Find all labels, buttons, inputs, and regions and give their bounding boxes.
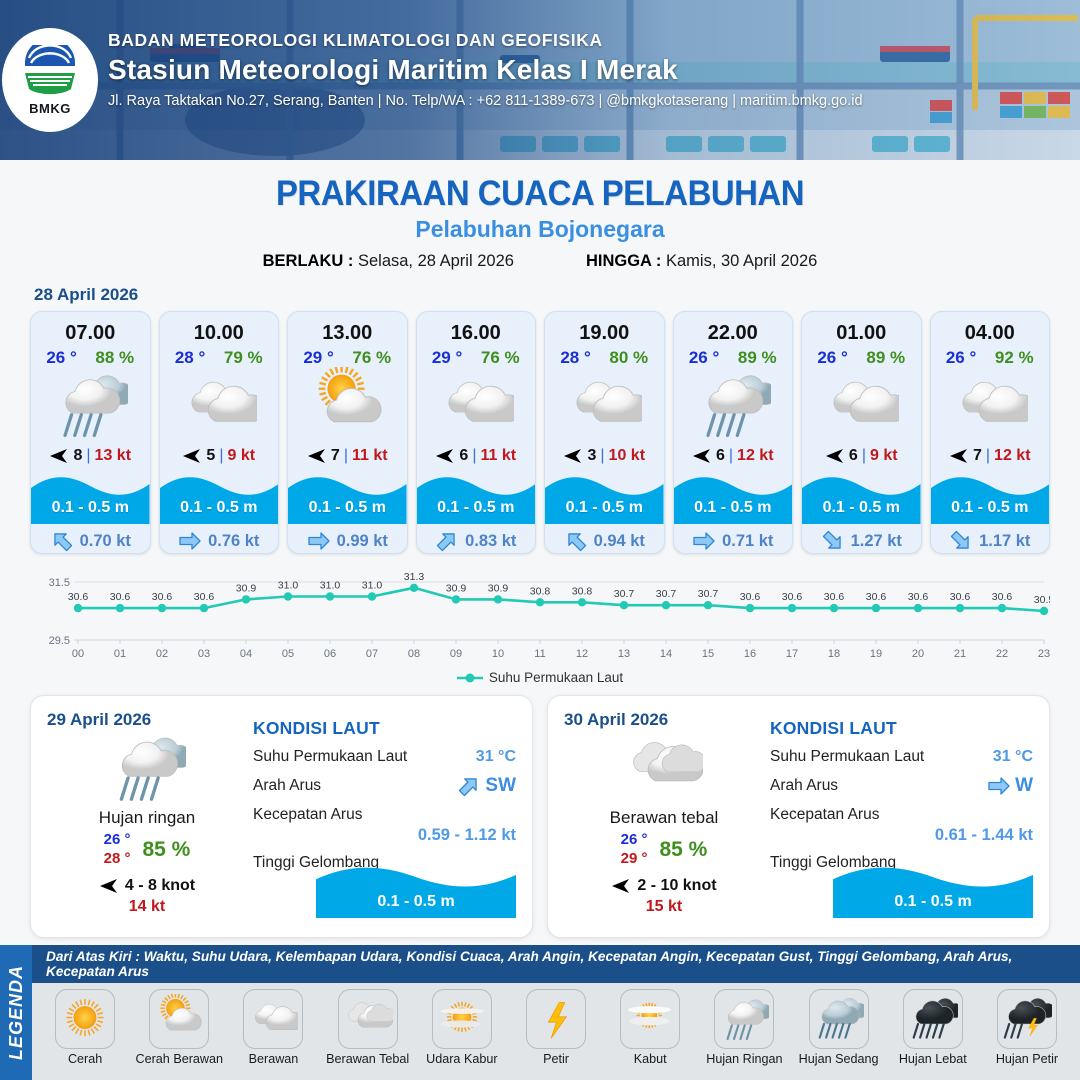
daily-temp-range: 26 ° 28 °	[104, 831, 131, 869]
berlaku-value: Selasa, 28 April 2026	[358, 252, 514, 270]
card-current-row: 0.70 kt	[31, 524, 150, 552]
svg-text:07: 07	[366, 648, 378, 660]
legend-item: Cerah	[40, 989, 130, 1066]
card-wind-speed: 9 kt	[870, 447, 898, 465]
wind-direction-arrow-icon	[49, 447, 69, 465]
current-direction-arrow-icon	[457, 775, 481, 797]
current-direction-arrow-icon	[949, 530, 973, 552]
legend-side-label: LEGENDA	[6, 965, 27, 1060]
current-direction-value: SW	[485, 775, 516, 797]
card-time: 04.00	[931, 312, 1050, 345]
berlaku-label: BERLAKU :	[263, 252, 354, 270]
daily-humidity: 85 %	[142, 838, 190, 862]
legend-icon-box	[620, 989, 680, 1049]
svg-text:11: 11	[534, 648, 545, 660]
berawan-icon	[566, 367, 642, 443]
current-direction-arrow-icon	[821, 530, 845, 552]
sst-chart-svg: 31.529.530.60030.60130.60230.60330.90431…	[30, 568, 1050, 668]
card-wind-separator: |	[219, 447, 223, 465]
hingga-label: HINGGA :	[586, 252, 661, 270]
hourly-forecast-card[interactable]: 22.00 26 ° 89 % 6 | 12 kt 0.1 - 0.5 m	[673, 311, 794, 554]
card-wave-height: 0.1 - 0.5 m	[802, 472, 921, 524]
card-temperature: 28 °	[560, 348, 590, 368]
card-weather-icon	[417, 368, 536, 442]
svg-text:02: 02	[156, 648, 168, 660]
berawan-tebal-icon	[343, 994, 393, 1044]
hingga-value: Kamis, 30 April 2026	[666, 252, 817, 270]
card-temperature: 26 °	[946, 348, 976, 368]
daily-wave-graphic: 0.1 - 0.5 m	[833, 862, 1033, 918]
card-wind-speed: 13 kt	[95, 447, 131, 465]
legend-item: Hujan Sedang	[794, 989, 884, 1066]
card-current-row: 0.94 kt	[545, 524, 664, 552]
legend-icon-box	[714, 989, 774, 1049]
svg-text:23: 23	[1038, 648, 1050, 660]
card-time: 22.00	[674, 312, 793, 345]
daily-forecast-panel[interactable]: 30 April 2026 Berawan tebal 26 ° 29 ° 85…	[547, 695, 1050, 938]
card-temp-hum-row: 29 ° 76 %	[417, 345, 536, 368]
cerah-berawan-icon	[154, 994, 204, 1044]
svg-text:30.7: 30.7	[656, 588, 677, 600]
wind-direction-arrow-icon	[182, 447, 202, 465]
hourly-forecast-card[interactable]: 10.00 28 ° 79 % 5 | 9 kt 0.1 - 0.5 m 0	[159, 311, 280, 554]
legend-item: Kabut	[605, 989, 695, 1066]
card-wave-value: 0.1 - 0.5 m	[288, 499, 407, 517]
contact-line: Jl. Raya Taktakan No.27, Serang, Banten …	[108, 93, 863, 109]
daily-wind-range: 2 - 10 knot	[637, 877, 716, 895]
card-temp-hum-row: 26 ° 89 %	[674, 345, 793, 368]
card-temperature: 26 °	[46, 348, 76, 368]
svg-text:30.9: 30.9	[446, 582, 467, 594]
card-wave-height: 0.1 - 0.5 m	[545, 472, 664, 524]
daily-left-column: Berawan tebal 26 ° 29 ° 85 % 2 - 10 knot…	[564, 732, 764, 916]
card-temperature: 29 °	[432, 348, 462, 368]
svg-text:10: 10	[492, 648, 504, 660]
svg-text:30.6: 30.6	[950, 591, 971, 603]
card-weather-icon	[931, 368, 1050, 442]
card-wind-direction-value: 7	[973, 447, 982, 465]
svg-text:00: 00	[72, 648, 84, 660]
card-current-speed: 0.94 kt	[594, 532, 645, 551]
sst-row: Suhu Permukaan Laut 31 °C	[253, 748, 516, 766]
card-time: 01.00	[802, 312, 921, 345]
daily-gust: 15 kt	[564, 898, 764, 916]
card-weather-icon	[160, 368, 279, 442]
daily-temp-humidity: 26 ° 28 ° 85 %	[47, 831, 247, 869]
bmkg-logo-text: BMKG	[29, 101, 71, 116]
current-speed-row: Kecepatan Arus	[253, 806, 516, 824]
current-speed-value: 0.61 - 1.44 kt	[770, 826, 1033, 845]
card-wind-row: 8 | 13 kt	[31, 442, 150, 470]
legend-body: Dari Atas Kiri : Waktu, Suhu Udara, Kele…	[32, 945, 1080, 1080]
card-wave-value: 0.1 - 0.5 m	[931, 499, 1050, 517]
svg-text:30.7: 30.7	[698, 588, 719, 600]
legend-item: Hujan Lebat	[888, 989, 978, 1066]
card-wind-speed: 9 kt	[227, 447, 255, 465]
svg-text:06: 06	[324, 648, 336, 660]
legend-item-label: Hujan Sedang	[799, 1052, 879, 1066]
svg-text:04: 04	[240, 648, 252, 660]
daily-left-column: Hujan ringan 26 ° 28 ° 85 % 4 - 8 knot 1…	[47, 732, 247, 916]
svg-text:30.5: 30.5	[1034, 594, 1050, 606]
card-wave-value: 0.1 - 0.5 m	[545, 499, 664, 517]
berawan-icon	[952, 367, 1028, 443]
daily-sea-conditions: KONDISI LAUT Suhu Permukaan Laut 31 °C A…	[253, 718, 516, 872]
berawan-icon	[181, 367, 257, 443]
daily-wave-value: 0.1 - 0.5 m	[316, 893, 516, 911]
petir-icon	[531, 994, 581, 1044]
card-wind-direction-value: 5	[206, 447, 215, 465]
card-current-row: 0.76 kt	[160, 524, 279, 552]
card-temperature: 26 °	[689, 348, 719, 368]
header-text-block: BADAN METEOROLOGI KLIMATOLOGI DAN GEOFIS…	[108, 30, 863, 109]
svg-text:30.6: 30.6	[866, 591, 887, 603]
svg-text:30.8: 30.8	[530, 585, 551, 597]
card-current-speed: 0.76 kt	[208, 532, 259, 551]
card-wind-separator: |	[344, 447, 348, 465]
svg-text:08: 08	[408, 648, 420, 660]
daily-forecast-row: 29 April 2026 Hujan ringan 26 ° 28 ° 85 …	[0, 685, 1080, 938]
card-wave-height: 0.1 - 0.5 m	[931, 472, 1050, 524]
daily-condition: Berawan tebal	[564, 808, 764, 828]
daily-temp-min: 26 °	[621, 831, 648, 850]
daily-wind-range: 4 - 8 knot	[125, 877, 195, 895]
current-direction-arrow-icon	[50, 530, 74, 552]
card-humidity: 92 %	[995, 348, 1034, 368]
legend-item: Udara Kabur	[417, 989, 507, 1066]
svg-text:30.6: 30.6	[110, 591, 131, 603]
daily-wind-row: 4 - 8 knot	[47, 877, 247, 895]
svg-text:30.6: 30.6	[152, 591, 173, 603]
svg-text:31.3: 31.3	[404, 571, 425, 583]
card-wind-speed: 12 kt	[737, 447, 773, 465]
card-weather-icon	[31, 368, 150, 442]
svg-text:31.0: 31.0	[320, 580, 341, 592]
legend-item-label: Hujan Petir	[996, 1052, 1058, 1066]
berawan-tebal-icon	[625, 729, 703, 807]
card-weather-icon	[545, 368, 664, 442]
card-temperature: 28 °	[175, 348, 205, 368]
svg-text:31.0: 31.0	[362, 580, 383, 592]
current-direction-row: Arah Arus SW	[253, 775, 516, 797]
legend-item-label: Berawan Tebal	[326, 1052, 409, 1066]
card-humidity: 79 %	[224, 348, 263, 368]
card-wind-row: 3 | 10 kt	[545, 442, 664, 470]
legend-item-label: Berawan	[249, 1052, 299, 1066]
wind-direction-arrow-icon	[692, 447, 712, 465]
page-subtitle: Pelabuhan Bojonegara	[0, 216, 1080, 243]
current-speed-row: Kecepatan Arus	[770, 806, 1033, 824]
card-wave-value: 0.1 - 0.5 m	[417, 499, 536, 517]
daily-temp-min: 26 °	[104, 831, 131, 850]
legend-items-row: Cerah Cerah Berawan Berawan Berawan Teba…	[32, 983, 1080, 1066]
svg-text:29.5: 29.5	[49, 635, 70, 647]
card-time: 13.00	[288, 312, 407, 345]
svg-text:30.6: 30.6	[908, 591, 929, 603]
card-temp-hum-row: 26 ° 89 %	[802, 345, 921, 368]
card-wind-direction-value: 6	[716, 447, 725, 465]
agency-name: BADAN METEOROLOGI KLIMATOLOGI DAN GEOFIS…	[108, 30, 863, 51]
card-humidity: 89 %	[866, 348, 905, 368]
legend-icon-box	[432, 989, 492, 1049]
current-direction-label: Arah Arus	[770, 777, 838, 795]
current-speed-label: Kecepatan Arus	[770, 806, 879, 824]
legend-icon-box	[903, 989, 963, 1049]
wind-direction-arrow-icon	[611, 877, 631, 895]
card-wind-separator: |	[86, 447, 90, 465]
svg-text:18: 18	[828, 648, 840, 660]
card-temp-hum-row: 29 ° 76 %	[288, 345, 407, 368]
card-temperature: 29 °	[303, 348, 333, 368]
svg-text:01: 01	[114, 648, 126, 660]
legend-icon-box	[55, 989, 115, 1049]
sea-conditions-title: KONDISI LAUT	[253, 718, 516, 739]
card-temp-hum-row: 28 ° 79 %	[160, 345, 279, 368]
kabut-icon	[625, 994, 675, 1044]
current-direction-value-group: W	[987, 775, 1033, 797]
card-wind-direction-value: 6	[849, 447, 858, 465]
page-title: PRAKIRAAN CUACA PELABUHAN	[32, 174, 1047, 214]
svg-text:14: 14	[660, 648, 672, 660]
svg-text:12: 12	[576, 648, 588, 660]
card-wind-separator: |	[729, 447, 733, 465]
card-wind-row: 6 | 12 kt	[674, 442, 793, 470]
card-weather-icon	[288, 368, 407, 442]
daily-wind-row: 2 - 10 knot	[564, 877, 764, 895]
daily-temp-max: 28 °	[104, 850, 131, 869]
current-direction-arrow-icon	[435, 530, 459, 552]
current-speed-label: Kecepatan Arus	[253, 806, 362, 824]
card-current-speed: 0.71 kt	[722, 532, 773, 551]
legend-note: Dari Atas Kiri : Waktu, Suhu Udara, Kele…	[32, 945, 1080, 983]
card-temp-hum-row: 28 ° 80 %	[545, 345, 664, 368]
svg-text:22: 22	[996, 648, 1008, 660]
card-wave-height: 0.1 - 0.5 m	[288, 472, 407, 524]
svg-text:31.0: 31.0	[278, 580, 299, 592]
card-time: 16.00	[417, 312, 536, 345]
bmkg-logo-mark	[19, 45, 81, 99]
station-name: Stasiun Meteorologi Maritim Kelas I Mera…	[108, 54, 863, 86]
card-time: 19.00	[545, 312, 664, 345]
card-current-row: 1.17 kt	[931, 524, 1050, 552]
daily-temp-max: 29 °	[621, 850, 648, 869]
svg-text:30.9: 30.9	[236, 582, 257, 594]
legend-item: Berawan Tebal	[323, 989, 413, 1066]
hourly-forecast-card[interactable]: 19.00 28 ° 80 % 3 | 10 kt 0.1 - 0.5 m	[544, 311, 665, 554]
legend-item-label: Hujan Lebat	[899, 1052, 967, 1066]
chart-legend-marker-icon	[457, 673, 483, 683]
card-wind-direction-value: 8	[73, 447, 82, 465]
validity-row: BERLAKU : Selasa, 28 April 2026 HINGGA :…	[0, 252, 1080, 271]
card-humidity: 76 %	[352, 348, 391, 368]
current-direction-value-group: SW	[457, 775, 516, 797]
card-current-speed: 0.83 kt	[465, 532, 516, 551]
card-current-speed: 1.17 kt	[979, 532, 1030, 551]
card-wave-height: 0.1 - 0.5 m	[674, 472, 793, 524]
card-temp-hum-row: 26 ° 88 %	[31, 345, 150, 368]
daily-condition: Hujan ringan	[47, 808, 247, 828]
wind-direction-arrow-icon	[99, 877, 119, 895]
legend-item-label: Cerah	[68, 1052, 102, 1066]
card-wind-row: 7 | 12 kt	[931, 442, 1050, 470]
svg-text:30.6: 30.6	[194, 591, 215, 603]
card-weather-icon	[674, 368, 793, 442]
berawan-icon	[823, 367, 899, 443]
svg-text:30.6: 30.6	[740, 591, 761, 603]
svg-text:30.7: 30.7	[614, 588, 635, 600]
card-wind-row: 6 | 9 kt	[802, 442, 921, 470]
svg-text:03: 03	[198, 648, 210, 660]
card-wind-separator: |	[472, 447, 476, 465]
card-wave-height: 0.1 - 0.5 m	[160, 472, 279, 524]
hourly-forecast-card[interactable]: 07.00 26 ° 88 % 8 | 13 kt 0.1 - 0.5 m	[30, 311, 151, 554]
card-wave-value: 0.1 - 0.5 m	[160, 499, 279, 517]
berlaku-group: BERLAKU : Selasa, 28 April 2026	[263, 252, 514, 271]
hourly-forecast-card[interactable]: 16.00 29 ° 76 % 6 | 11 kt 0.1 - 0.5 m	[416, 311, 537, 554]
legend-icon-box	[338, 989, 398, 1049]
svg-text:05: 05	[282, 648, 294, 660]
daily-weather-icon	[564, 732, 764, 804]
svg-text:30.8: 30.8	[572, 585, 593, 597]
card-wind-separator: |	[986, 447, 990, 465]
current-direction-arrow-icon	[692, 530, 716, 552]
card-current-row: 0.99 kt	[288, 524, 407, 552]
card-time: 10.00	[160, 312, 279, 345]
wind-direction-arrow-icon	[435, 447, 455, 465]
svg-text:17: 17	[786, 648, 798, 660]
legend-icon-box	[809, 989, 869, 1049]
wind-direction-arrow-icon	[307, 447, 327, 465]
daily-wave-value: 0.1 - 0.5 m	[833, 893, 1033, 911]
hujan-ringan-icon	[108, 729, 186, 807]
legend-section: LEGENDA Dari Atas Kiri : Waktu, Suhu Uda…	[0, 945, 1080, 1080]
svg-text:13: 13	[618, 648, 630, 660]
card-wave-value: 0.1 - 0.5 m	[674, 499, 793, 517]
daily-temp-humidity: 26 ° 29 ° 85 %	[564, 831, 764, 869]
svg-text:31.5: 31.5	[49, 577, 70, 589]
legend-icon-box	[997, 989, 1057, 1049]
sst-label: Suhu Permukaan Laut	[770, 748, 924, 766]
hourly-forecast-card[interactable]: 13.00 29 ° 76 % 7 | 11 kt 0.1 - 0.5 m	[287, 311, 408, 554]
svg-text:30.9: 30.9	[488, 582, 509, 594]
card-wind-speed: 12 kt	[994, 447, 1030, 465]
svg-text:30.6: 30.6	[68, 591, 89, 603]
cerah-berawan-icon	[309, 367, 385, 443]
daily-humidity: 85 %	[659, 838, 707, 862]
legend-icon-box	[149, 989, 209, 1049]
svg-text:30.6: 30.6	[992, 591, 1013, 603]
card-temp-hum-row: 26 ° 92 %	[931, 345, 1050, 368]
legend-item-label: Petir	[543, 1052, 569, 1066]
sst-value: 31 °C	[476, 748, 516, 766]
svg-text:19: 19	[870, 648, 882, 660]
hujan-ringan-icon	[52, 367, 128, 443]
legend-item: Hujan Ringan	[699, 989, 789, 1066]
hourly-forecast-card[interactable]: 01.00 26 ° 89 % 6 | 9 kt 0.1 - 0.5 m 1	[801, 311, 922, 554]
berawan-icon	[248, 994, 298, 1044]
daily-forecast-panel[interactable]: 29 April 2026 Hujan ringan 26 ° 28 ° 85 …	[30, 695, 533, 938]
hingga-group: HINGGA : Kamis, 30 April 2026	[586, 252, 817, 271]
legend-item-label: Udara Kabur	[426, 1052, 497, 1066]
card-current-row: 0.83 kt	[417, 524, 536, 552]
daily-wave-graphic: 0.1 - 0.5 m	[316, 862, 516, 918]
current-direction-arrow-icon	[178, 530, 202, 552]
current-direction-value: W	[1015, 775, 1033, 797]
svg-text:30.6: 30.6	[824, 591, 845, 603]
hujan-petir-icon	[1002, 994, 1052, 1044]
card-wind-row: 5 | 9 kt	[160, 442, 279, 470]
card-wind-row: 7 | 11 kt	[288, 442, 407, 470]
card-wind-row: 6 | 11 kt	[417, 442, 536, 470]
legend-item-label: Kabut	[634, 1052, 667, 1066]
wind-direction-arrow-icon	[563, 447, 583, 465]
card-time: 07.00	[31, 312, 150, 345]
svg-text:15: 15	[702, 648, 714, 660]
hourly-forecast-card[interactable]: 04.00 26 ° 92 % 7 | 12 kt 0.1 - 0.5 m	[930, 311, 1051, 554]
chart-legend-label: Suhu Permukaan Laut	[489, 670, 623, 685]
daily-sea-conditions: KONDISI LAUT Suhu Permukaan Laut 31 °C A…	[770, 718, 1033, 872]
title-block: PRAKIRAAN CUACA PELABUHAN Pelabuhan Bojo…	[0, 160, 1080, 271]
sst-row: Suhu Permukaan Laut 31 °C	[770, 748, 1033, 766]
card-humidity: 88 %	[95, 348, 134, 368]
card-humidity: 76 %	[481, 348, 520, 368]
bmkg-logo: BMKG	[2, 28, 98, 132]
wind-direction-arrow-icon	[825, 447, 845, 465]
daily-weather-icon	[47, 732, 247, 804]
svg-text:16: 16	[744, 648, 756, 660]
hourly-date-label: 28 April 2026	[34, 285, 1080, 305]
card-humidity: 89 %	[738, 348, 777, 368]
legend-icon-box	[526, 989, 586, 1049]
daily-temp-range: 26 ° 29 °	[621, 831, 648, 869]
legend-item-label: Cerah Berawan	[136, 1052, 224, 1066]
card-wind-separator: |	[600, 447, 604, 465]
page-header: BMKG BADAN METEOROLOGI KLIMATOLOGI DAN G…	[0, 0, 1080, 160]
hourly-forecast-row: 07.00 26 ° 88 % 8 | 13 kt 0.1 - 0.5 m	[0, 311, 1080, 554]
sst-chart: 31.529.530.60030.60130.60230.60330.90431…	[30, 568, 1050, 668]
card-weather-icon	[802, 368, 921, 442]
svg-text:30.6: 30.6	[782, 591, 803, 603]
hujan-lebat-icon	[908, 994, 958, 1044]
svg-text:20: 20	[912, 648, 924, 660]
card-wave-height: 0.1 - 0.5 m	[417, 472, 536, 524]
card-wind-direction-value: 6	[459, 447, 468, 465]
legend-item: Berawan	[228, 989, 318, 1066]
hujan-sedang-icon	[814, 994, 864, 1044]
legend-item: Cerah Berawan	[134, 989, 224, 1066]
card-wind-speed: 11 kt	[480, 447, 516, 465]
current-direction-arrow-icon	[564, 530, 588, 552]
legend-item: Petir	[511, 989, 601, 1066]
legend-item: Hujan Petir	[982, 989, 1072, 1066]
hujan-ringan-icon	[695, 367, 771, 443]
card-humidity: 80 %	[609, 348, 648, 368]
current-direction-arrow-icon	[307, 530, 331, 552]
card-wind-direction-value: 7	[331, 447, 340, 465]
berawan-icon	[438, 367, 514, 443]
hujan-ringan-icon	[719, 994, 769, 1044]
svg-text:21: 21	[954, 648, 966, 660]
sst-value: 31 °C	[993, 748, 1033, 766]
card-wave-height: 0.1 - 0.5 m	[31, 472, 150, 524]
daily-gust: 14 kt	[47, 898, 247, 916]
wind-direction-arrow-icon	[949, 447, 969, 465]
card-current-speed: 0.70 kt	[80, 532, 131, 551]
card-wind-direction-value: 3	[587, 447, 596, 465]
legend-item-label: Hujan Ringan	[706, 1052, 782, 1066]
current-direction-row: Arah Arus W	[770, 775, 1033, 797]
current-speed-value: 0.59 - 1.12 kt	[253, 826, 516, 845]
